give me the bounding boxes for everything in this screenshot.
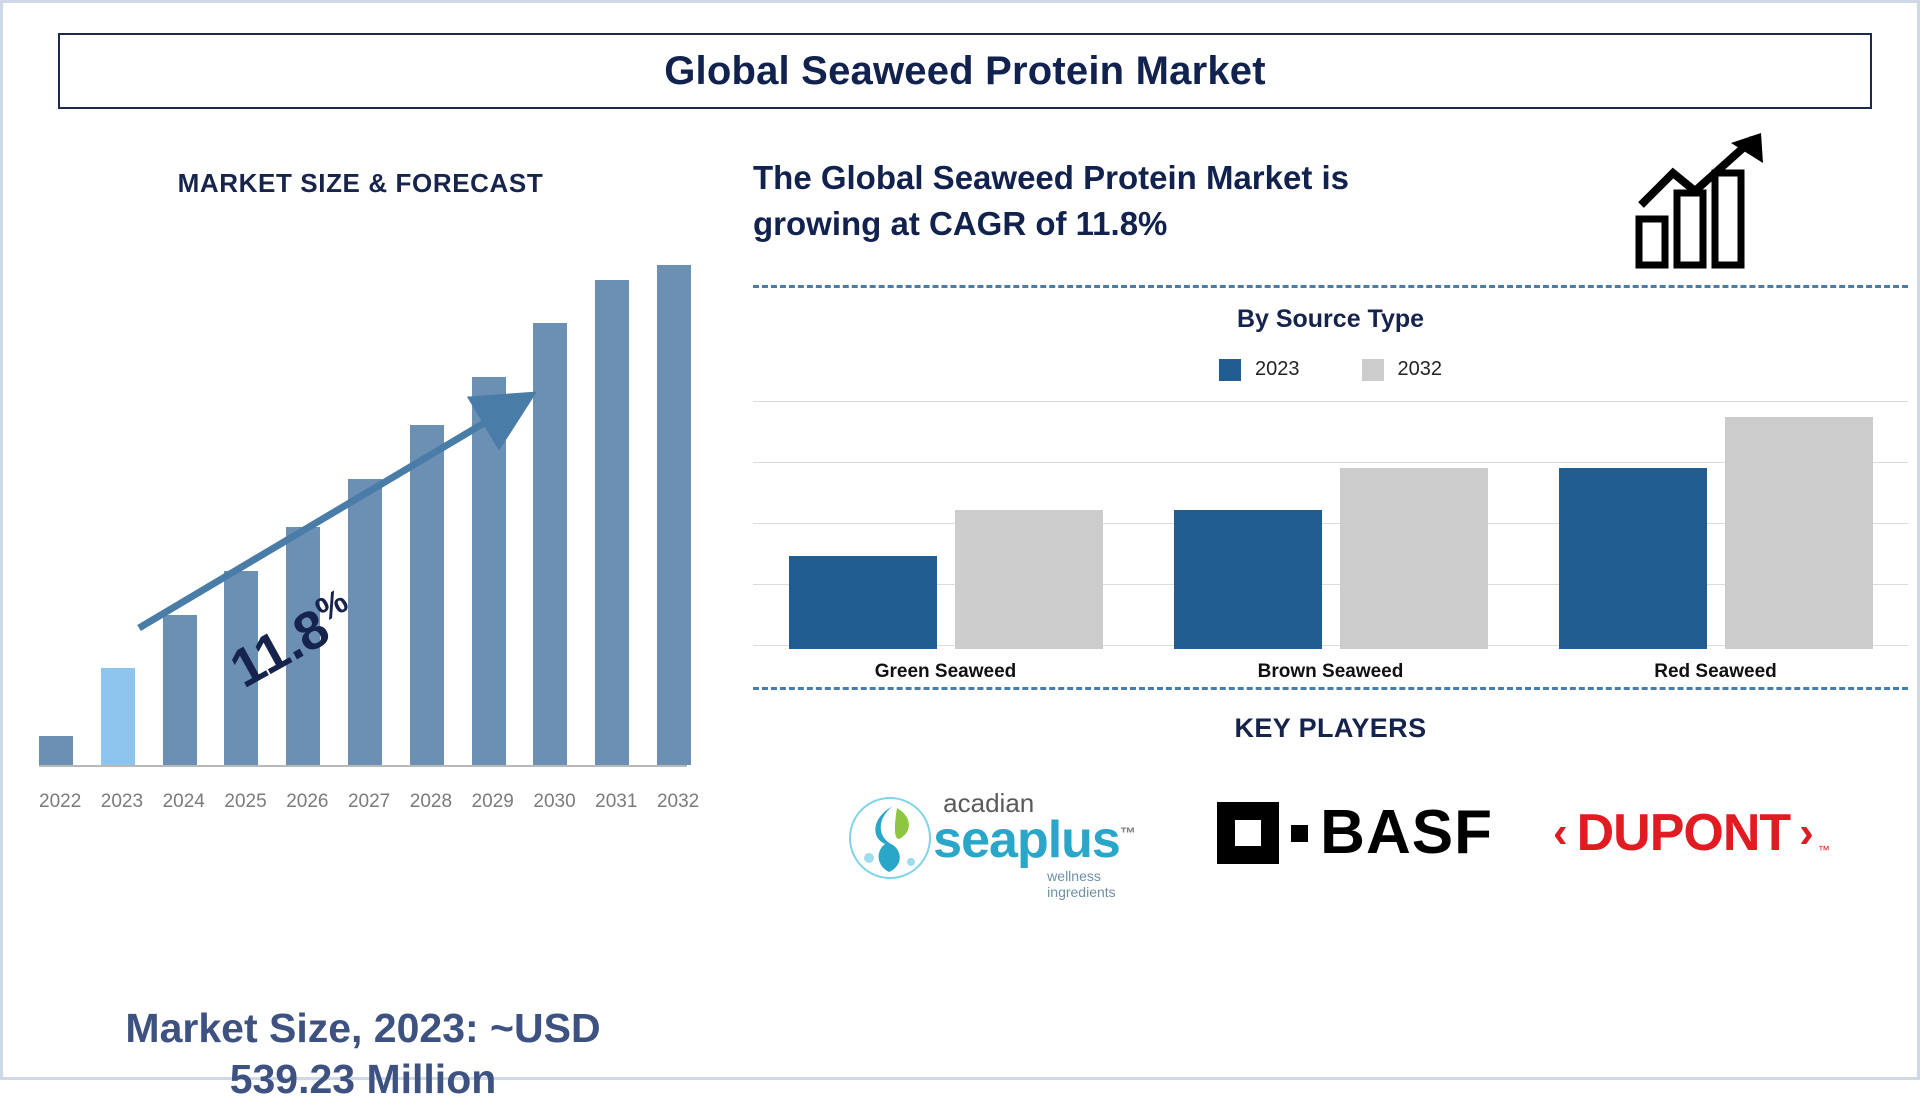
chart-axis-line xyxy=(39,765,687,767)
key-players-logos: acadian seaplus™ wellness ingredients BA… xyxy=(753,763,1908,903)
cagr-headline-line2: growing at CAGR of 11.8% xyxy=(753,201,1623,247)
acadian-leaf-icon xyxy=(847,796,933,880)
legend-swatch xyxy=(1219,359,1241,381)
forecast-year-label: 2031 xyxy=(595,791,629,813)
basf-logo: BASF xyxy=(1217,802,1493,864)
source-bar-2023 xyxy=(789,556,937,649)
acadian-tagline: wellness ingredients xyxy=(1047,868,1157,900)
source-type-bar-chart xyxy=(753,401,1908,649)
divider-top xyxy=(753,285,1908,288)
forecast-year-label: 2027 xyxy=(348,791,382,813)
source-bar-group xyxy=(1559,417,1873,649)
market-forecast-bar-chart: 11.8% 2022202320242025202620272028202920… xyxy=(21,243,701,953)
title-box: Global Seaweed Protein Market xyxy=(58,33,1872,109)
forecast-bar xyxy=(595,280,629,765)
forecast-bar xyxy=(472,377,506,765)
legend-item: 2032 xyxy=(1362,358,1443,381)
dupont-left-chevron-icon: ‹ xyxy=(1553,811,1568,855)
legend-label: 2032 xyxy=(1398,358,1443,381)
source-category-label: Green Seaweed xyxy=(781,661,1111,683)
forecast-year-label: 2029 xyxy=(472,791,506,813)
divider-bottom xyxy=(753,687,1908,690)
forecast-bar xyxy=(163,615,197,765)
forecast-bar xyxy=(101,668,135,765)
legend-item: 2023 xyxy=(1219,358,1300,381)
forecast-bar xyxy=(657,265,691,765)
source-category-label: Brown Seaweed xyxy=(1166,661,1496,683)
basf-dot-icon xyxy=(1291,825,1308,842)
source-bar-2023 xyxy=(1559,468,1707,649)
infographic-page: Global Seaweed Protein Market MARKET SIZ… xyxy=(0,0,1920,1080)
forecast-year-label: 2030 xyxy=(533,791,567,813)
legend-label: 2023 xyxy=(1255,358,1300,381)
dupont-right-chevron-icon: › xyxy=(1799,811,1814,855)
market-size-line1: Market Size, 2023: ~USD xyxy=(13,1003,713,1054)
source-category-label: Red Seaweed xyxy=(1551,661,1881,683)
forecast-year-label: 2028 xyxy=(410,791,444,813)
source-bar-2032 xyxy=(955,510,1103,649)
key-players-title: KEY PLAYERS xyxy=(753,713,1908,744)
forecast-year-label: 2022 xyxy=(39,791,73,813)
forecast-bars-container xyxy=(39,245,691,765)
right-panel: The Global Seaweed Protein Market is gro… xyxy=(743,113,1903,1073)
forecast-year-labels: 2022202320242025202620272028202920302031… xyxy=(39,791,691,813)
source-category-labels: Green SeaweedBrown SeaweedRed Seaweed xyxy=(753,661,1908,683)
source-bar-2023 xyxy=(1174,510,1322,649)
cagr-headline-line1: The Global Seaweed Protein Market is xyxy=(753,155,1623,201)
source-type-legend: 20232032 xyxy=(753,358,1908,381)
source-bar-2032 xyxy=(1340,468,1488,649)
dupont-logo: ‹ DUPONT › ™ xyxy=(1553,807,1814,859)
page-title: Global Seaweed Protein Market xyxy=(664,49,1266,94)
growth-arrow-bars-icon xyxy=(1633,133,1783,273)
acadian-wordmark-main: seaplus™ xyxy=(933,810,1135,870)
basf-square-icon xyxy=(1217,802,1279,864)
forecast-year-label: 2024 xyxy=(163,791,197,813)
forecast-year-label: 2026 xyxy=(286,791,320,813)
cagr-headline: The Global Seaweed Protein Market is gro… xyxy=(753,155,1623,246)
market-size-forecast-panel: MARKET SIZE & FORECAST 11.8% 20222023202… xyxy=(3,113,718,1073)
dupont-wordmark: DUPONT xyxy=(1577,807,1791,859)
source-bar-2032 xyxy=(1725,417,1873,649)
source-bar-group xyxy=(789,510,1103,649)
basf-wordmark: BASF xyxy=(1320,802,1493,864)
source-type-section-title: By Source Type xyxy=(753,305,1908,334)
dupont-tm: ™ xyxy=(1818,843,1830,857)
acadian-seaplus-logo: acadian seaplus™ wellness ingredients xyxy=(847,778,1157,888)
forecast-bar xyxy=(39,736,73,765)
legend-swatch xyxy=(1362,359,1384,381)
forecast-year-label: 2023 xyxy=(101,791,135,813)
source-bar-group xyxy=(1174,468,1488,649)
market-size-value: Market Size, 2023: ~USD 539.23 Million xyxy=(13,1003,713,1106)
source-bars-container xyxy=(753,401,1908,649)
forecast-year-label: 2032 xyxy=(657,791,691,813)
market-size-heading: MARKET SIZE & FORECAST xyxy=(3,168,718,199)
forecast-year-label: 2025 xyxy=(224,791,258,813)
forecast-bar xyxy=(533,323,567,765)
forecast-bar xyxy=(410,425,444,765)
